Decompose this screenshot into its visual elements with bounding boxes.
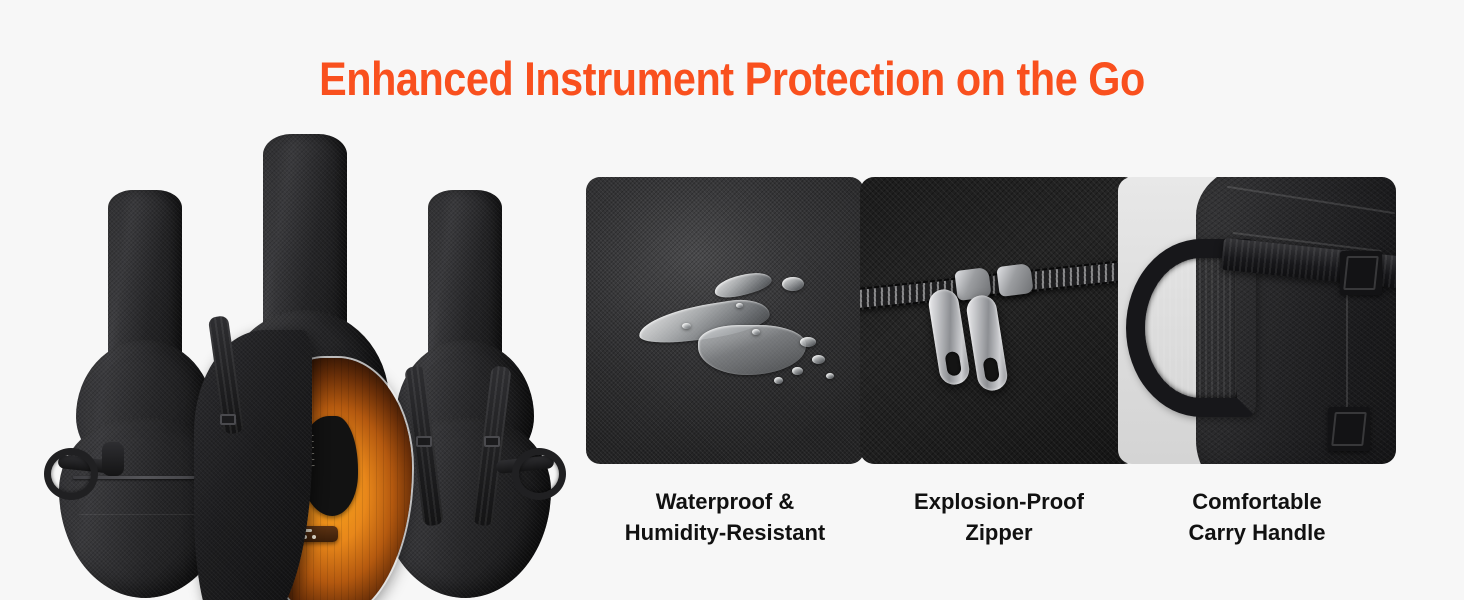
fabric-weave-texture [860,177,1138,464]
product-feature-banner: Enhanced Instrument Protection on the Go [0,0,1464,600]
feature-caption-line-2: Zipper [860,517,1138,548]
water-droplet [782,277,804,291]
bag-open-flap [194,330,312,600]
feature-caption-line-1: Explosion-Proof [860,486,1138,517]
page-title: Enhanced Instrument Protection on the Go [88,54,1376,103]
feature-card-waterproof: Waterproof & Humidity-Resistant [586,177,864,548]
handle-reinforcement-tab [1340,251,1382,295]
feature-caption-line-1: Waterproof & [586,486,864,517]
webbing-texture [1145,258,1237,398]
bridge-pin [312,535,316,539]
water-droplet [682,323,691,329]
water-droplet [736,303,743,308]
feature-caption-line-2: Humidity-Resistant [586,517,864,548]
water-droplet [774,377,783,384]
strap-buckle [220,414,236,425]
strap-loop [44,448,98,500]
gig-bag-open-centre [190,134,420,600]
water-droplet [800,337,816,347]
feature-caption-line-1: Comfortable [1118,486,1396,517]
water-droplets-on-fabric-photo [586,177,864,464]
zipper-slider-body [996,263,1033,297]
strap-loop [512,448,566,500]
feature-caption: Explosion-Proof Zipper [860,486,1138,548]
feature-caption: Waterproof & Humidity-Resistant [586,486,864,548]
dual-metal-zipper-pulls-photo [860,177,1138,464]
handle-reinforcement-tab [1328,407,1370,451]
water-droplet [826,373,834,379]
fabric-texture [194,330,312,600]
feature-caption: Comfortable Carry Handle [1118,486,1396,548]
strap-buckle [484,436,500,447]
feature-card-handle: Comfortable Carry Handle [1118,177,1396,548]
water-droplet [792,367,803,375]
strap-anchor [102,442,124,476]
feature-card-zipper: Explosion-Proof Zipper [860,177,1138,548]
water-droplet [812,355,825,364]
hero-product-image [20,118,560,588]
webbing-carry-handle-photo [1118,177,1396,464]
water-droplet [752,329,760,335]
feature-caption-line-2: Carry Handle [1118,517,1396,548]
